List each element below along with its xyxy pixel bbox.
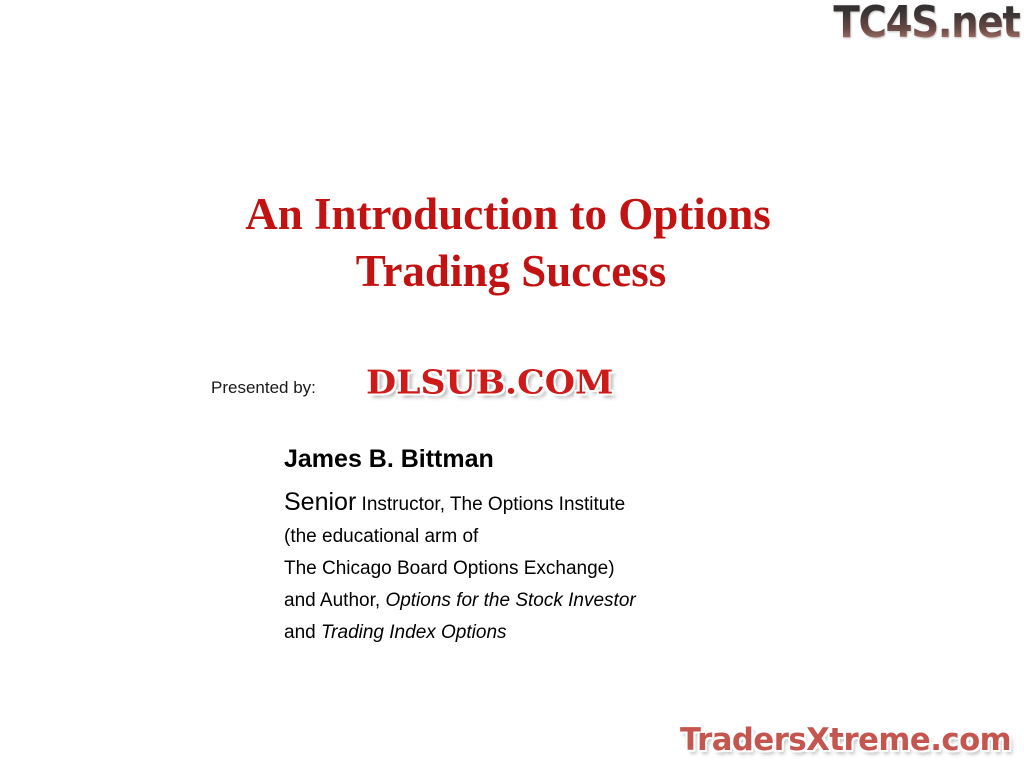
tradersxtreme-watermark-text: TradersXtreme.com [680, 722, 1011, 758]
title-line-1: An Introduction to Options [0, 186, 1024, 243]
speaker-book-line: and Trading Index Options [284, 617, 636, 649]
page-title: An Introduction to Options Trading Succe… [0, 186, 1024, 300]
presented-by-label: Presented by: [211, 378, 316, 398]
title-line-2: Trading Success [0, 243, 1024, 300]
tc4s-net-logo: TC4S.net [834, 0, 1020, 48]
speaker-author-line: and Author, Options for the Stock Invest… [284, 585, 636, 617]
dlsub-watermark-text: DLSUB.COM [366, 365, 613, 401]
presentation-slide: TC4S.net An Introduction to Options Trad… [0, 0, 1024, 768]
dlsub-watermark: DLSUB.COM [366, 362, 608, 404]
presented-by-row: Presented by: [211, 378, 316, 398]
speaker-role-detail: Instructor, The Options Institute [362, 494, 626, 515]
speaker-role-line: Senior Instructor, The Options Institute [284, 486, 636, 521]
author-book-title-1: Options for the Stock Investor [385, 590, 635, 611]
author-prefix: and Author, [284, 590, 380, 611]
speaker-org-line-2: The Chicago Board Options Exchange) [284, 553, 636, 585]
speaker-name: James B. Bittman [284, 444, 636, 475]
tradersxtreme-watermark: TradersXtreme.com [680, 716, 1024, 764]
speaker-role-seniority: Senior [284, 488, 356, 516]
book-prefix: and [284, 622, 316, 643]
speaker-info-block: James B. Bittman Senior Instructor, The … [284, 444, 636, 649]
speaker-org-line-1: (the educational arm of [284, 521, 636, 553]
author-book-title-2: Trading Index Options [321, 622, 507, 643]
